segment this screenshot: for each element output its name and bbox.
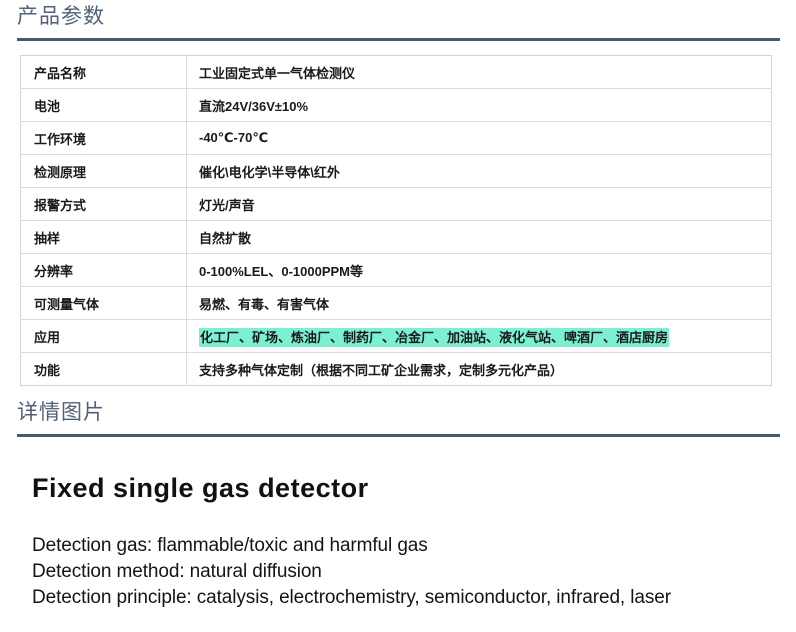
section-divider	[17, 434, 780, 437]
spec-label-cell: 电池	[21, 89, 187, 122]
spec-label-cell: 抽样	[21, 221, 187, 254]
table-row: 抽样自然扩散	[21, 221, 772, 254]
spec-label-cell: 功能	[21, 353, 187, 386]
spec-value-cell: 催化\电化学\半导体\红外	[187, 155, 772, 188]
spec-label-cell: 应用	[21, 320, 187, 353]
spec-label-cell: 工作环境	[21, 122, 187, 155]
table-row: 报警方式灯光/声音	[21, 188, 772, 221]
detail-banner-title: Fixed single gas detector	[32, 473, 369, 504]
table-row: 电池直流24V/36V±10%	[21, 89, 772, 122]
table-row: 产品名称工业固定式单一气体检测仪	[21, 56, 772, 89]
table-row: 检测原理催化\电化学\半导体\红外	[21, 155, 772, 188]
spec-value-cell: 化工厂、矿场、炼油厂、制药厂、冶金厂、加油站、液化气站、啤酒厂、酒店厨房	[187, 320, 772, 353]
spec-value-cell: 易燃、有毒、有害气体	[187, 287, 772, 320]
table-row: 可测量气体易燃、有毒、有害气体	[21, 287, 772, 320]
spec-table: 产品名称工业固定式单一气体检测仪电池直流24V/36V±10%工作环境-40℃-…	[20, 55, 772, 386]
spec-value-cell: 工业固定式单一气体检测仪	[187, 56, 772, 89]
spec-value-cell: -40℃-70℃	[187, 122, 772, 155]
spec-label-cell: 产品名称	[21, 56, 187, 89]
detail-image-banner: Fixed single gas detector Detection gas:…	[0, 445, 796, 632]
spec-table-body: 产品名称工业固定式单一气体检测仪电池直流24V/36V±10%工作环境-40℃-…	[21, 56, 772, 386]
spec-value-cell: 直流24V/36V±10%	[187, 89, 772, 122]
spec-label-cell: 报警方式	[21, 188, 187, 221]
detail-banner-lines: Detection gas: flammable/toxic and harmf…	[32, 533, 792, 611]
spec-label-cell: 检测原理	[21, 155, 187, 188]
spec-label-cell: 可测量气体	[21, 287, 187, 320]
spec-value-cell: 支持多种气体定制（根据不同工矿企业需求，定制多元化产品）	[187, 353, 772, 386]
section-heading-detail-images: 详情图片	[0, 396, 796, 434]
spec-value-cell: 0-100%LEL、0-1000PPM等	[187, 254, 772, 287]
spec-value-cell: 自然扩散	[187, 221, 772, 254]
product-parameters-section: 产品参数	[0, 0, 796, 41]
detail-banner-line: Detection principle: catalysis, electroc…	[32, 585, 792, 611]
section-heading-product-parameters: 产品参数	[0, 0, 796, 38]
spec-table-container: 产品名称工业固定式单一气体检测仪电池直流24V/36V±10%工作环境-40℃-…	[20, 55, 771, 386]
detail-images-section: 详情图片	[0, 396, 796, 437]
detail-banner-line: Detection method: natural diffusion	[32, 559, 792, 585]
highlighted-value: 化工厂、矿场、炼油厂、制药厂、冶金厂、加油站、液化气站、啤酒厂、酒店厨房	[199, 328, 669, 347]
detail-banner-line: Detection gas: flammable/toxic and harmf…	[32, 533, 792, 559]
section-divider	[17, 38, 780, 41]
table-row: 工作环境-40℃-70℃	[21, 122, 772, 155]
spec-value-cell: 灯光/声音	[187, 188, 772, 221]
table-row: 分辨率0-100%LEL、0-1000PPM等	[21, 254, 772, 287]
table-row: 应用化工厂、矿场、炼油厂、制药厂、冶金厂、加油站、液化气站、啤酒厂、酒店厨房	[21, 320, 772, 353]
spec-label-cell: 分辨率	[21, 254, 187, 287]
table-row: 功能支持多种气体定制（根据不同工矿企业需求，定制多元化产品）	[21, 353, 772, 386]
